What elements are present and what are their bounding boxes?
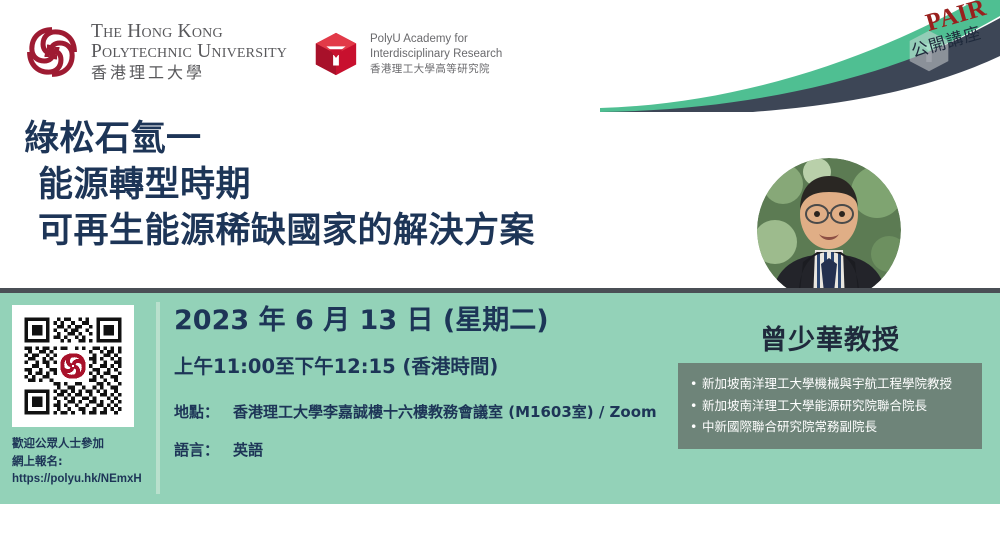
speaker-credentials-list: 新加坡南洋理工大學機械與宇航工程學院教授 新加坡南洋理工大學能源研究院聯合院長 …	[688, 373, 972, 438]
vertical-separator	[156, 302, 160, 494]
pair-logo-line1: PolyU Academy for	[370, 32, 502, 47]
pair-logo-line3-chinese: 香港理工大學高等研究院	[370, 63, 502, 76]
qr-code[interactable]	[12, 305, 134, 427]
registration-url[interactable]: https://polyu.hk/NEmxH	[12, 471, 140, 489]
pair-cube-icon	[312, 30, 360, 78]
pair-logo-line2: Interdisciplinary Research	[370, 47, 502, 62]
polyu-knot-icon	[24, 24, 80, 80]
qr-code-icon	[21, 314, 125, 418]
polyu-university-logo: The Hong Kong Polytechnic University 香港理…	[24, 22, 287, 81]
poster-title: 綠松石氫一 能源轉型時期 可再生能源稀缺國家的解決方案	[24, 116, 664, 255]
event-language-row: 語言： 英語	[174, 439, 644, 460]
polyu-logo-line3-chinese: 香港理工大學	[91, 65, 287, 82]
event-date: 2023 年 6 月 13 日 (星期二)	[174, 305, 644, 337]
registration-text: 歡迎公眾人士參加 網上報名: https://polyu.hk/NEmxH	[12, 435, 140, 488]
language-value: 英語	[233, 439, 263, 460]
list-item: 新加坡南洋理工大學能源研究院聯合院長	[688, 395, 972, 417]
registration-label: 網上報名:	[12, 453, 140, 471]
speaker-name: 曾少華教授	[660, 318, 1000, 357]
pair-lecture-badge: PAIR 公開講座	[900, 14, 1000, 78]
speaker-avatar	[757, 158, 901, 302]
title-line-2: 能源轉型時期	[24, 162, 664, 208]
list-item: 新加坡南洋理工大學機械與宇航工程學院教授	[688, 373, 972, 395]
title-line-3: 可再生能源稀缺國家的解決方案	[24, 208, 664, 254]
event-venue-row: 地點： 香港理工大學李嘉誠樓十六樓教務會議室 (M1603室) / Zoom	[174, 401, 644, 422]
event-time: 上午11:00至下午12:15 (香港時間)	[174, 350, 644, 379]
polyu-logo-line2: Polytechnic University	[91, 42, 287, 62]
pair-academy-logo: PolyU Academy for Interdisciplinary Rese…	[312, 30, 502, 78]
registration-block: 歡迎公眾人士參加 網上報名: https://polyu.hk/NEmxH	[12, 305, 140, 488]
speaker-credentials-box: 新加坡南洋理工大學機械與宇航工程學院教授 新加坡南洋理工大學能源研究院聯合院長 …	[678, 363, 982, 449]
language-label: 語言：	[174, 439, 219, 460]
venue-label: 地點：	[174, 401, 219, 422]
list-item: 中新國際聯合研究院常務副院長	[688, 416, 972, 438]
polyu-logo-line1: The Hong Kong	[91, 22, 287, 42]
registration-welcome: 歡迎公眾人士參加	[12, 435, 140, 453]
poster-canvas: The Hong Kong Polytechnic University 香港理…	[0, 0, 1000, 540]
title-line-1: 綠松石氫一	[24, 116, 664, 162]
venue-value: 香港理工大學李嘉誠樓十六樓教務會議室 (M1603室) / Zoom	[233, 401, 657, 422]
event-details: 2023 年 6 月 13 日 (星期二) 上午11:00至下午12:15 (香…	[174, 305, 644, 460]
